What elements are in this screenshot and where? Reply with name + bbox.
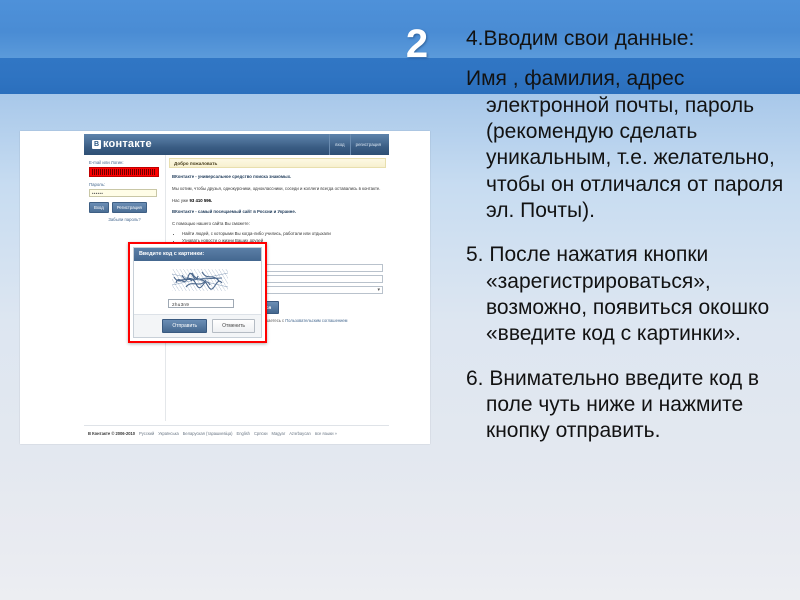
vk-tagline: ВКонтакте - универсальное средство поиск… <box>172 174 383 180</box>
vk-login-button-row: Вход Регистрация <box>89 202 165 213</box>
vk-email-redaction-overlay <box>92 169 156 175</box>
vk-popularity-text: ВКонтакте - самый посещаемый сайт в Росс… <box>172 209 296 214</box>
background-bottom-fade <box>0 470 800 600</box>
vk-agreement-link[interactable]: Пользовательским соглашением <box>285 318 347 323</box>
vk-password-input[interactable]: •••••• <box>89 189 157 197</box>
vk-user-count: Нас уже 93 410 596. <box>172 198 383 204</box>
vk-header-bar: В контакте вход регистрация <box>84 134 389 156</box>
vk-popularity-note: ВКонтакте - самый посещаемый сайт в Росс… <box>172 209 383 215</box>
instruction-paragraph-6: 6. Внимательно введите код в поле чуть н… <box>466 366 796 445</box>
instruction-paragraph-5: 5. После нажатия кнопки «зарегистрироват… <box>466 242 796 347</box>
instruction-paragraph-4: 4.Вводим свои данные: <box>466 26 796 52</box>
vk-footer-copyright: В Контакте © 2006-2010 <box>88 431 135 436</box>
slide-number: 2 <box>372 22 462 66</box>
vk-email-label: E-mail или Логин: <box>89 160 165 165</box>
vk-lang-en[interactable]: English <box>237 431 250 436</box>
vk-lang-hu[interactable]: Magyar <box>272 431 286 436</box>
vk-lang-uk[interactable]: Українська <box>158 431 179 436</box>
vk-count-prefix: Нас уже <box>172 198 190 203</box>
vk-count-value: 93 410 596. <box>190 198 213 203</box>
vk-header-nav: вход регистрация <box>329 134 386 155</box>
captcha-code-input[interactable]: 2hu3n9 <box>168 299 234 308</box>
vk-nav-login[interactable]: вход <box>329 134 349 155</box>
captcha-dialog-body: 2hu3n9 <box>134 261 261 317</box>
vk-forgot-password-link[interactable]: Забыли пароль? <box>84 217 165 222</box>
list-item: Найти людей, с которыми Вы когда-либо уч… <box>182 231 389 236</box>
vk-help-intro: С помощью нашего сайта Вы сможете: <box>172 221 383 227</box>
vk-tagline-text: ВКонтакте - универсальное средство поиск… <box>172 174 291 179</box>
captcha-image <box>172 269 228 291</box>
vk-welcome-header: Добро пожаловать <box>169 158 386 168</box>
vk-email-input[interactable] <box>89 167 159 177</box>
vk-nav-register[interactable]: регистрация <box>350 134 386 155</box>
vk-logo[interactable]: В контакте <box>92 138 152 150</box>
instruction-text-column: 4.Вводим свои данные: Имя , фамилия, адр… <box>466 26 796 456</box>
vk-lang-az[interactable]: Azərbaycan <box>289 431 311 436</box>
captcha-dialog-inner: Введите код с картинки: <box>133 247 262 338</box>
vk-register-button[interactable]: Регистрация <box>112 202 147 213</box>
vk-login-button[interactable]: Вход <box>89 202 109 213</box>
slide-canvas: 2 4.Вводим свои данные: Имя , фамилия, а… <box>0 0 800 600</box>
vk-password-label: Пароль: <box>89 182 165 187</box>
vk-intro-paragraph: Мы хотим, чтобы друзья, однокурсники, од… <box>172 186 383 192</box>
vk-lang-sr[interactable]: Српски <box>254 431 268 436</box>
instruction-paragraph-details: Имя , фамилия, адрес электронной почты, … <box>466 66 796 224</box>
vk-footer: В Контакте © 2006-2010 Русский Українськ… <box>84 425 389 440</box>
captcha-cancel-button[interactable]: Отменить <box>212 319 255 333</box>
captcha-dialog-title: Введите код с картинки: <box>134 248 261 261</box>
vk-registration-screenshot: В контакте вход регистрация E-mail или Л… <box>20 131 430 444</box>
vk-logo-wordmark: контакте <box>103 138 152 150</box>
vk-lang-ru[interactable]: Русский <box>139 431 154 436</box>
vk-lang-be[interactable]: Беларуская (тарашкевіца) <box>183 431 233 436</box>
captcha-dialog-footer: Отправить Отменить <box>134 314 261 337</box>
vk-logo-badge-icon: В <box>92 140 101 149</box>
vk-lang-all[interactable]: все языки » <box>315 431 337 436</box>
captcha-dialog: Введите код с картинки: <box>128 242 267 343</box>
captcha-submit-button[interactable]: Отправить <box>162 319 207 333</box>
captcha-distorted-text-icon <box>172 269 228 291</box>
